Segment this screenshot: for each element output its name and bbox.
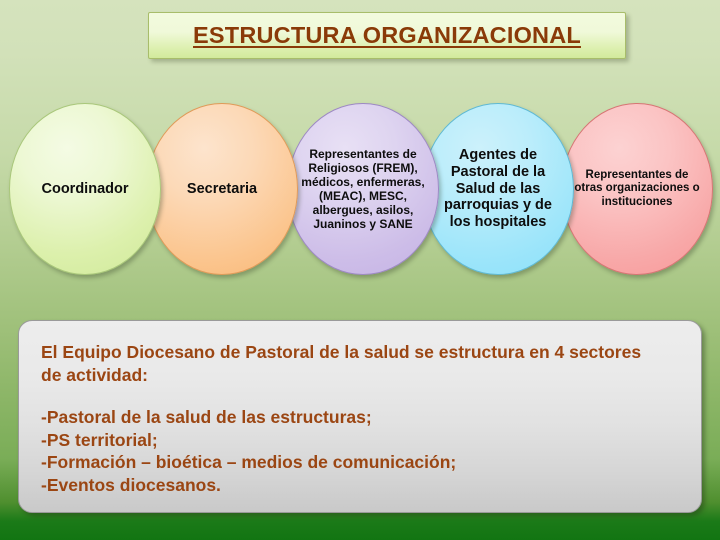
org-node-label: Representantes de otras organizaciones o… [562, 169, 712, 209]
list-item: -Pastoral de la salud de las estructuras… [41, 406, 679, 429]
org-node-label: Agentes de Pastoral de la Salud de las p… [423, 147, 573, 232]
org-node-coordinador[interactable]: Coordinador [9, 103, 161, 275]
body-intro-text: El Equipo Diocesano de Pastoral de la sa… [41, 341, 656, 388]
org-node-representantes-otras[interactable]: Representantes de otras organizaciones o… [561, 103, 713, 275]
page-title: ESTRUCTURA ORGANIZACIONAL [193, 22, 581, 49]
list-item: -PS territorial; [41, 429, 679, 452]
list-item: -Eventos diocesanos. [41, 474, 679, 497]
org-node-label: Coordinador [33, 181, 138, 198]
slide-title-box: ESTRUCTURA ORGANIZACIONAL [148, 12, 626, 59]
body-text-panel: El Equipo Diocesano de Pastoral de la sa… [18, 320, 702, 513]
org-node-label: Secretaria [178, 181, 266, 198]
list-item: -Formación – bioética – medios de comuni… [41, 451, 679, 474]
org-node-label: Representantes de Religiosos (FREM), méd… [288, 147, 438, 231]
org-node-representantes-religiosos[interactable]: Representantes de Religiosos (FREM), méd… [287, 103, 439, 275]
org-node-secretaria[interactable]: Secretaria [146, 103, 298, 275]
slide-canvas: ESTRUCTURA ORGANIZACIONAL Coordinador Se… [0, 0, 720, 540]
org-chart-circles: Coordinador Secretaria Representantes de… [0, 103, 720, 278]
body-bullet-list: -Pastoral de la salud de las estructuras… [41, 406, 679, 497]
org-node-agentes-pastoral[interactable]: Agentes de Pastoral de la Salud de las p… [422, 103, 574, 275]
